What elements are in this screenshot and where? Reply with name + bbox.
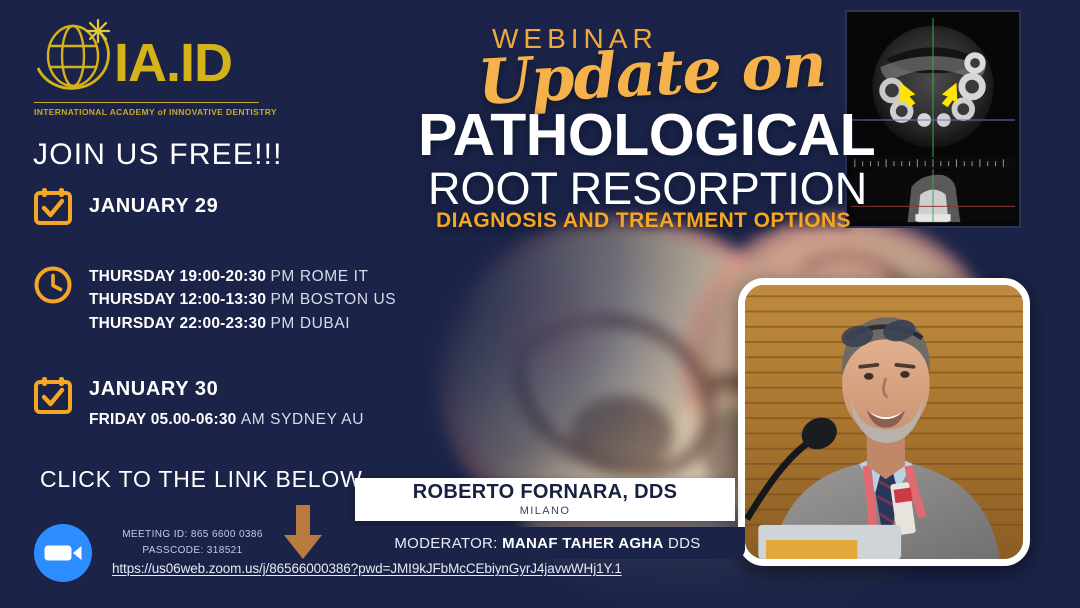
moderator-text: MODERATOR: MANAF TAHER AGHA DDS	[394, 535, 700, 552]
sydney-light: AM SYDNEY AU	[241, 411, 364, 428]
time-rows: THURSDAY 19:00-20:30 PM ROME IT THURSDAY…	[89, 265, 396, 333]
logo-divider	[34, 102, 259, 103]
date-30-stack: JANUARY 30 FRIDAY 05.00-06:30 AM SYDNEY …	[89, 375, 364, 429]
click-link-below-text: CLICK TO THE LINK BELOW	[40, 466, 363, 493]
globe-orbit-icon	[28, 14, 120, 96]
moderator-prefix: MODERATOR:	[394, 535, 502, 552]
headline-line-1: PATHOLOGICAL	[418, 106, 875, 165]
headline-line-2: ROOT RESORPTION	[428, 166, 867, 211]
speaker-name: ROBERTO FORNARA, DDS	[413, 482, 678, 503]
zoom-video-camera-icon[interactable]	[32, 522, 94, 584]
time-row-light: PM ROME IT	[270, 268, 368, 285]
join-us-free-text: JOIN US FREE!!!	[33, 138, 283, 172]
time-row-light: PM BOSTON US	[270, 291, 396, 308]
logo-wordmark: IA.ID	[114, 36, 232, 90]
time-row-bold: THURSDAY 22:00-23:30	[89, 315, 266, 332]
arrow-down-icon	[278, 503, 328, 561]
time-row-bold: THURSDAY 19:00-20:30	[89, 268, 266, 285]
time-row-light: PM DUBAI	[270, 315, 350, 332]
logo: IA.ID INTERNATIONAL ACADEMY of INNOVATIV…	[28, 14, 263, 114]
time-row: THURSDAY 19:00-20:30 PM ROME IT	[89, 268, 396, 286]
date-label-january-30: JANUARY 30	[89, 376, 364, 402]
clock-icon	[33, 265, 73, 305]
speaker-portrait-photo	[738, 278, 1030, 566]
speaker-name-banner: ROBERTO FORNARA, DDS MILANO	[355, 478, 735, 521]
zoom-meeting-link[interactable]: https://us06web.zoom.us/j/86566000386?pw…	[112, 561, 622, 576]
moderator-bar: MODERATOR: MANAF TAHER AGHA DDS	[350, 527, 745, 559]
date-label-january-29: JANUARY 29	[89, 186, 218, 226]
time-row: THURSDAY 22:00-23:30 PM DUBAI	[89, 315, 396, 333]
time-row-bold: THURSDAY 12:00-13:30	[89, 291, 266, 308]
time-row: THURSDAY 12:00-13:30 PM BOSTON US	[89, 291, 396, 309]
sydney-time-row: FRIDAY 05.00-06:30 AM SYDNEY AU	[89, 411, 364, 429]
webinar-poster: IA.ID INTERNATIONAL ACADEMY of INNOVATIV…	[0, 0, 1080, 608]
date-block-january-29: JANUARY 29	[33, 186, 218, 226]
meeting-id-text: MEETING ID: 865 6600 0386	[110, 527, 275, 543]
logo-tagline: INTERNATIONAL ACADEMY of INNOVATIVE DENT…	[34, 107, 277, 117]
passcode-text: PASSCODE: 318521	[110, 543, 275, 559]
sydney-bold: FRIDAY 05.00-06:30	[89, 411, 237, 428]
moderator-suffix: DDS	[664, 535, 701, 552]
meeting-info: MEETING ID: 865 6600 0386 PASSCODE: 3185…	[110, 527, 275, 558]
headline-line-3: DIAGNOSIS AND TREATMENT OPTIONS	[436, 210, 851, 231]
speaker-city: MILANO	[520, 505, 571, 517]
calendar-check-icon	[33, 186, 73, 226]
date-block-january-30: JANUARY 30 FRIDAY 05.00-06:30 AM SYDNEY …	[33, 375, 364, 429]
time-block: THURSDAY 19:00-20:30 PM ROME IT THURSDAY…	[33, 265, 396, 333]
moderator-name: MANAF TAHER AGHA	[502, 535, 663, 552]
calendar-check-icon	[33, 375, 73, 415]
